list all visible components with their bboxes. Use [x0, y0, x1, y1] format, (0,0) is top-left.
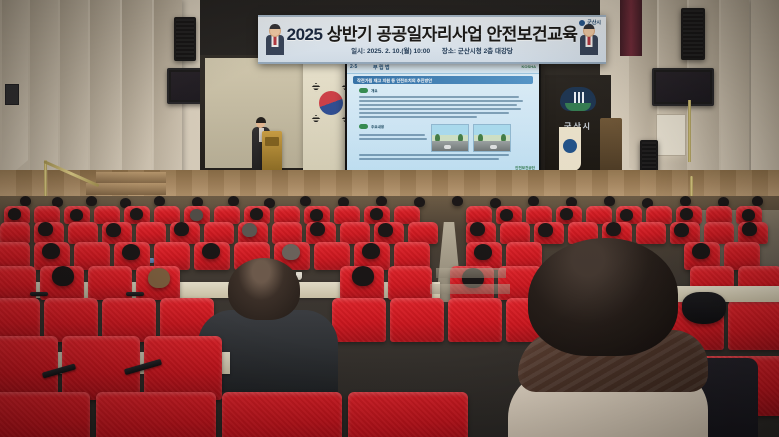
seat-armrest [30, 292, 48, 296]
seat [0, 336, 58, 400]
lectern [262, 131, 282, 171]
aisle-step [436, 268, 506, 278]
audience-head [680, 196, 691, 206]
audience-head [20, 196, 31, 206]
presenter-hair [256, 117, 266, 123]
audience-head [538, 223, 553, 237]
seat [68, 222, 98, 244]
audience-head [604, 196, 615, 206]
audience-head [680, 208, 693, 220]
event-banner: 2025 상반기 공공일자리사업 안전보건교육 일시: 2025. 2. 10.… [258, 15, 606, 64]
seat [348, 392, 468, 437]
slide-text-line [359, 154, 509, 156]
taeguk-circle [319, 91, 343, 115]
slide-text-line [359, 134, 425, 136]
seat [204, 222, 234, 244]
seat [272, 222, 302, 244]
audience-head [174, 222, 189, 236]
foreground-attendee-woman [528, 238, 754, 437]
audience-head [38, 222, 53, 236]
audience-head [310, 209, 323, 221]
audience-head [70, 209, 83, 221]
emblem-wave [565, 103, 591, 111]
banner-title: 2025 상반기 공공일자리사업 안전보건교육 [258, 20, 606, 45]
slide-section-label-1: 개요 [371, 89, 378, 94]
audience-head [470, 222, 485, 236]
seat-armrest [126, 292, 144, 296]
auditorium-photo: 군산시 2-5 부 립 법 KOSHA 작전가림 재고 지원 등 안전조치의 추… [0, 0, 779, 437]
audience-head [528, 196, 539, 206]
acoustic-panel [30, 0, 58, 186]
seat [96, 392, 216, 437]
banner-subtitle: 일시: 2025. 2. 10.(월) 10:00 장소: 군산시청 2층 대강… [258, 45, 606, 55]
aisle-step [430, 284, 510, 294]
seat [340, 222, 370, 244]
slide-section-label-2: 주요내용 [371, 125, 384, 130]
acoustic-panel [90, 0, 120, 190]
audience-head [154, 196, 165, 206]
slide-section-badge-2 [359, 124, 368, 129]
seat [0, 222, 30, 244]
audience-head [250, 208, 263, 220]
audience-head [474, 244, 492, 260]
monitor-screen [656, 72, 710, 102]
audience-head [148, 268, 170, 288]
audience-head [606, 222, 621, 236]
acoustic-panel [60, 0, 88, 188]
audience-head [42, 243, 60, 259]
slide-text-line [359, 116, 477, 118]
speaker-grille [176, 19, 194, 59]
slide-section-badge-1 [359, 88, 368, 93]
audience-head [242, 223, 257, 237]
banner-org-label: 군산시 [587, 19, 601, 26]
projection-screen: 2-5 부 립 법 KOSHA 작전가림 재고 지원 등 안전조치의 추진방안 … [345, 60, 541, 176]
slide-header-bar: 작전가림 재고 지원 등 안전조치의 추진방안 [353, 76, 533, 84]
slide-text-line [359, 108, 521, 110]
attendee-hair [528, 238, 678, 356]
audience-head [376, 196, 387, 206]
audience-head [378, 223, 393, 237]
attendee-head [228, 258, 300, 320]
slide-text-line [359, 138, 427, 140]
city-flag-emblem-icon [563, 139, 577, 153]
acoustic-panel [721, 0, 749, 194]
presentation-slide: 2-5 부 립 법 KOSHA 작전가림 재고 지원 등 안전조치의 추진방안 … [347, 62, 539, 174]
side-lectern [600, 118, 622, 170]
audience-head [122, 244, 140, 260]
seat [136, 222, 166, 244]
trigram-icon [312, 83, 320, 91]
slide-photo-right [473, 124, 511, 152]
wall-panel-plate-left [5, 84, 19, 105]
slide-photo-left [431, 124, 469, 152]
audience-head [190, 209, 203, 221]
banner-place: 장소: 군산시청 2층 대강당 [442, 48, 513, 55]
slide-top-title: 부 립 법 [373, 64, 390, 71]
slide-text-line [359, 104, 517, 106]
audience-head [52, 266, 74, 286]
seat [390, 298, 444, 342]
banner-title-main: 상반기 공공일자리사업 안전보건교육 [327, 25, 578, 44]
trigram-icon [312, 115, 320, 123]
audience-head [752, 196, 763, 206]
slide-header-text: 작전가림 재고 지원 등 안전조치의 추진방안 [357, 78, 432, 84]
seat [332, 298, 386, 342]
slide-page-number: 2-5 [350, 64, 357, 70]
stage-curtain-right [620, 0, 642, 56]
slide-text-line [359, 158, 499, 160]
slide-text-line [359, 96, 519, 98]
seat [0, 392, 90, 437]
audience-head [310, 222, 325, 236]
audience-head [130, 208, 143, 220]
wall-conduit-pole [688, 100, 691, 162]
line-array-speaker-right [681, 8, 705, 60]
line-array-speaker-left [174, 17, 196, 61]
city-flag [559, 127, 581, 171]
audience-head [742, 209, 755, 221]
banner-org-logo: 군산시 [579, 19, 601, 26]
audience-head [300, 196, 311, 206]
banner-year: 2025 [287, 25, 323, 44]
speaker-grille [683, 10, 703, 58]
audience-head [202, 243, 220, 259]
seat [388, 266, 432, 300]
acoustic-panel [751, 0, 779, 196]
seat [500, 222, 530, 244]
audience-head [370, 208, 383, 220]
seat [144, 336, 222, 400]
audience-head [560, 208, 573, 220]
audience-head [8, 208, 21, 220]
acoustic-panel [122, 0, 152, 192]
org-logo-icon [579, 20, 585, 26]
seat [222, 392, 342, 437]
banner-date: 일시: 2025. 2. 10.(월) 10:00 [351, 48, 430, 55]
slide-text-line [359, 100, 523, 102]
audience-head [500, 209, 513, 221]
emblem-bars [574, 92, 584, 103]
wall-notice-board [656, 114, 686, 156]
slide-text-line [359, 112, 509, 114]
audience-head [362, 243, 380, 259]
seat [448, 298, 502, 342]
audience-head [620, 209, 633, 221]
audience-head [742, 222, 757, 236]
wall-monitor-right [652, 68, 714, 106]
audience-head [674, 223, 689, 237]
gunsan-city-emblem-icon [560, 87, 596, 121]
audience-head [106, 223, 121, 237]
seat [408, 222, 438, 244]
audience-head [352, 266, 374, 286]
slide-top-logo: KOSHA [522, 64, 536, 69]
audience-head [86, 196, 97, 206]
audience-head [228, 196, 239, 206]
audience-head [452, 196, 463, 206]
